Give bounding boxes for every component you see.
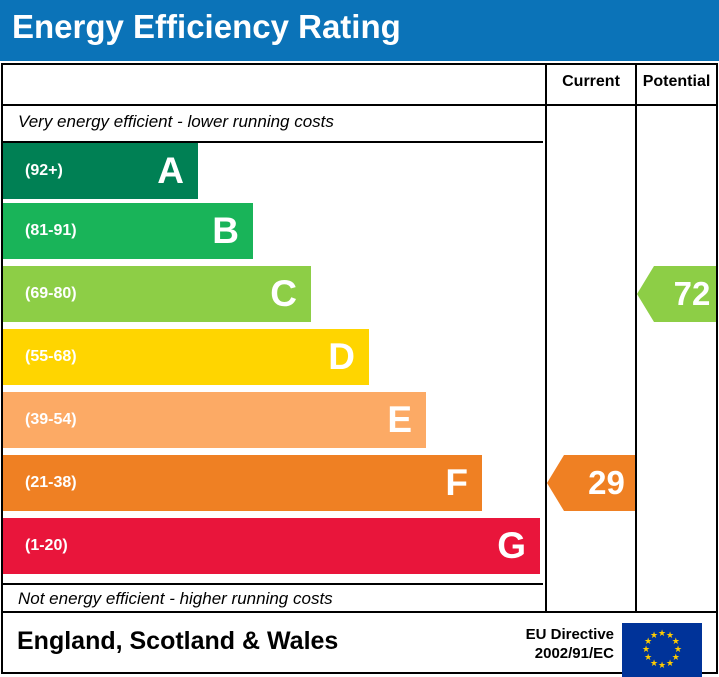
eu-directive-line1: EU Directive [526,626,614,645]
band-letter-f: F [445,464,468,501]
band-letter-c: C [270,275,297,312]
band-row-b: (81-91) B [3,203,253,259]
band-range-a: (92+) [25,162,63,180]
eu-directive-line2: 2002/91/EC [526,645,614,664]
current-rating-badge: 29 [564,455,635,511]
band-range-d: (55-68) [25,348,77,366]
note-bottom-divider [3,583,543,585]
chart-header: Energy Efficiency Rating [0,0,719,61]
potential-rating-value: 72 [674,275,711,313]
eu-directive-label: EU Directive 2002/91/EC [526,626,614,664]
column-header-potential: Potential [637,73,716,91]
note-top: Very energy efficient - lower running co… [18,112,334,132]
band-row-g: (1-20) G [3,518,540,574]
current-rating-value: 29 [588,464,625,502]
band-row-a: (92+) A [3,143,198,199]
potential-rating-badge: 72 [654,266,716,322]
column-divider-current [545,65,547,611]
band-letter-g: G [497,527,526,564]
region-label: England, Scotland & Wales [17,627,338,656]
band-row-d: (55-68) D [3,329,369,385]
band-row-c: (69-80) C [3,266,311,322]
band-range-e: (39-54) [25,411,77,429]
note-bottom: Not energy efficient - higher running co… [18,589,333,609]
band-range-g: (1-20) [25,537,68,555]
band-range-f: (21-38) [25,474,77,492]
band-letter-a: A [157,152,184,189]
chart-footer: England, Scotland & Wales EU Directive 2… [1,613,718,674]
column-divider-potential [635,65,637,611]
current-rating-arrow [547,455,564,511]
band-row-f: (21-38) F [3,455,482,511]
band-range-c: (69-80) [25,285,77,303]
header-divider [3,104,716,106]
band-letter-b: B [212,212,239,249]
band-letter-d: D [328,338,355,375]
column-header-current: Current [547,73,635,91]
potential-rating-arrow [637,266,654,322]
band-row-e: (39-54) E [3,392,426,448]
page-title: Energy Efficiency Rating [12,8,401,46]
epc-certificate: Energy Efficiency Rating Current Potenti… [0,0,719,675]
eu-flag-star: ★ [649,631,659,641]
eu-flag-icon: ★★★★★★★★★★★★ [622,623,702,677]
band-range-b: (81-91) [25,222,77,240]
chart-frame: Current Potential Very energy efficient … [1,63,718,613]
band-letter-e: E [387,401,412,438]
